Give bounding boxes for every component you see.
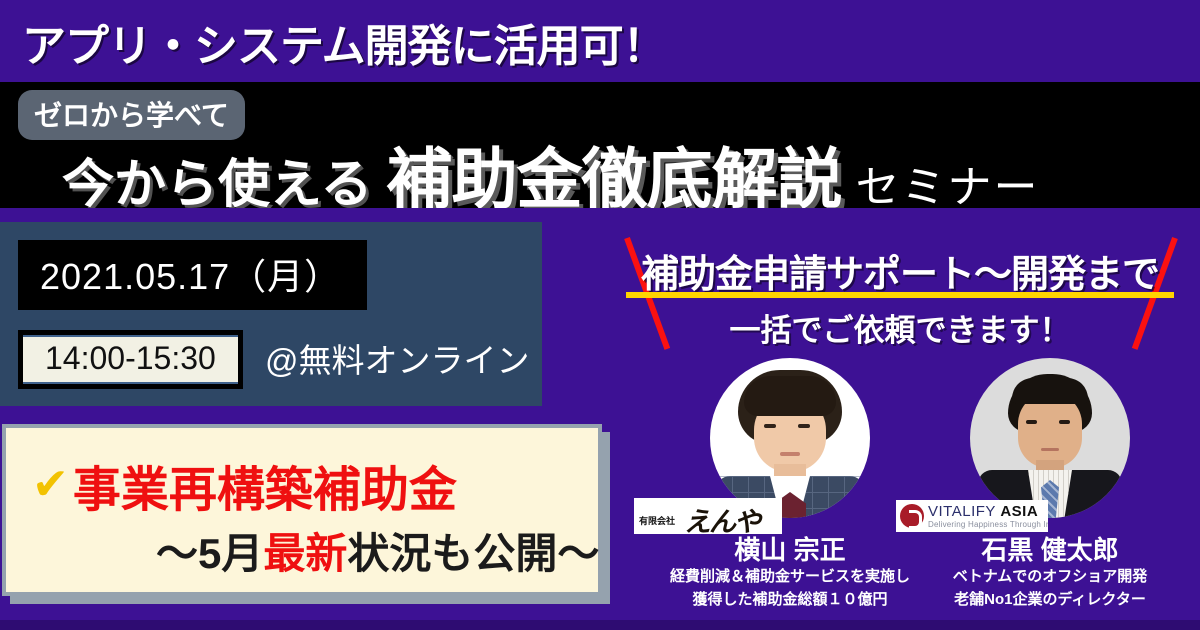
vitalify-wordmark: VITALIFY ASIA	[928, 503, 1038, 520]
event-venue: @無料オンライン	[265, 334, 530, 382]
speaker-card-1: 横山 宗正 経費削減＆補助金サービスを実施し 獲得した補助金総額１０億円	[640, 358, 940, 518]
subnote-prefix: 〜5月	[156, 530, 263, 577]
vitalify-brand-bold: ASIA	[1000, 503, 1038, 520]
speaker-2-desc-line2: 老舗No1企業のディレクター	[900, 589, 1200, 612]
event-time: 14:00-15:30	[23, 335, 238, 384]
speaker-2-desc-line1: ベトナムでのオフショア開発	[900, 566, 1200, 589]
highlight-box: ✔ 事業再構築補助金 〜5月最新状況も公開〜	[2, 424, 602, 596]
avatar-mouth	[1041, 448, 1059, 451]
header-title-band: ゼロから学べて 今から使える 補助金徹底解説 セミナー	[0, 82, 1200, 208]
logo-brand-brush: えんやかわ	[684, 500, 782, 534]
subsidy-name: 事業再構築補助金	[73, 450, 457, 520]
title-small: 今から使える	[62, 142, 372, 217]
subnote-highlight: 最新	[263, 530, 347, 577]
speaker-1-description: 経費削減＆補助金サービスを実施し 獲得した補助金総額１０億円	[640, 566, 940, 611]
support-headline-line2: 一括でご依頼できます！	[600, 305, 1200, 350]
avatar-eye-right	[1059, 420, 1070, 424]
event-time-frame: 14:00-15:30	[18, 330, 243, 389]
check-icon: ✔	[32, 463, 69, 507]
speaker-1-avatar	[710, 358, 870, 518]
vitalify-mark-icon	[900, 504, 924, 528]
speaker-2-name: 石黒 健太郎	[900, 530, 1200, 567]
speaker-1-desc-line2: 獲得した補助金総額１０億円	[640, 589, 940, 612]
avatar-eye-right	[798, 424, 810, 428]
vitalify-brand-light: VITALIFY	[928, 503, 1000, 520]
header-divider	[0, 208, 1200, 222]
speaker-1-name: 横山 宗正	[640, 530, 940, 567]
speaker-card-2: 石黒 健太郎 ベトナムでのオフショア開発 老舗No1企業のディレクター	[900, 358, 1200, 518]
event-date: 2021.05.17（月）	[18, 240, 367, 310]
speaker-1-desc-line1: 経費削減＆補助金サービスを実施し	[640, 566, 940, 589]
avatar-eye-left	[1026, 420, 1037, 424]
speaker-2-avatar	[970, 358, 1130, 518]
support-headline-underline	[626, 292, 1174, 298]
bottom-strip	[0, 620, 1200, 630]
avatar-fringe	[1012, 378, 1088, 404]
subsidy-headline: ✔ 事業再構築補助金	[32, 450, 457, 520]
avatar-mouth	[780, 452, 800, 456]
kicker-text: アプリ・システム開発に活用可！	[22, 10, 666, 74]
header-kicker-band: アプリ・システム開発に活用可！	[0, 0, 1200, 82]
event-info-panel: 2021.05.17（月） 14:00-15:30 @無料オンライン	[0, 222, 542, 406]
avatar-fringe	[744, 376, 836, 416]
avatar-eye-left	[764, 424, 776, 428]
seminar-banner: アプリ・システム開発に活用可！ ゼロから学べて 今から使える 補助金徹底解説 セ…	[0, 0, 1200, 630]
subnote-suffix: 状況も公開〜	[347, 530, 599, 577]
subsidy-subnote: 〜5月最新状況も公開〜	[156, 520, 599, 581]
vitalify-tagline: Delivering Happiness Through Internet	[928, 520, 1048, 529]
main-title: 今から使える 補助金徹底解説 セミナー	[0, 126, 1200, 206]
speaker-2-description: ベトナムでのオフショア開発 老舗No1企業のディレクター	[900, 566, 1200, 611]
logo-company-type: 有限会社	[639, 514, 675, 527]
speaker-1-company-logo: 有限会社 えんやかわ	[634, 498, 782, 534]
speaker-2-company-logo: VITALIFY ASIA Delivering Happiness Throu…	[896, 500, 1048, 532]
support-headline-line1: 補助金申請サポート〜開発まで	[600, 243, 1200, 298]
title-tail: セミナー	[855, 151, 1039, 215]
